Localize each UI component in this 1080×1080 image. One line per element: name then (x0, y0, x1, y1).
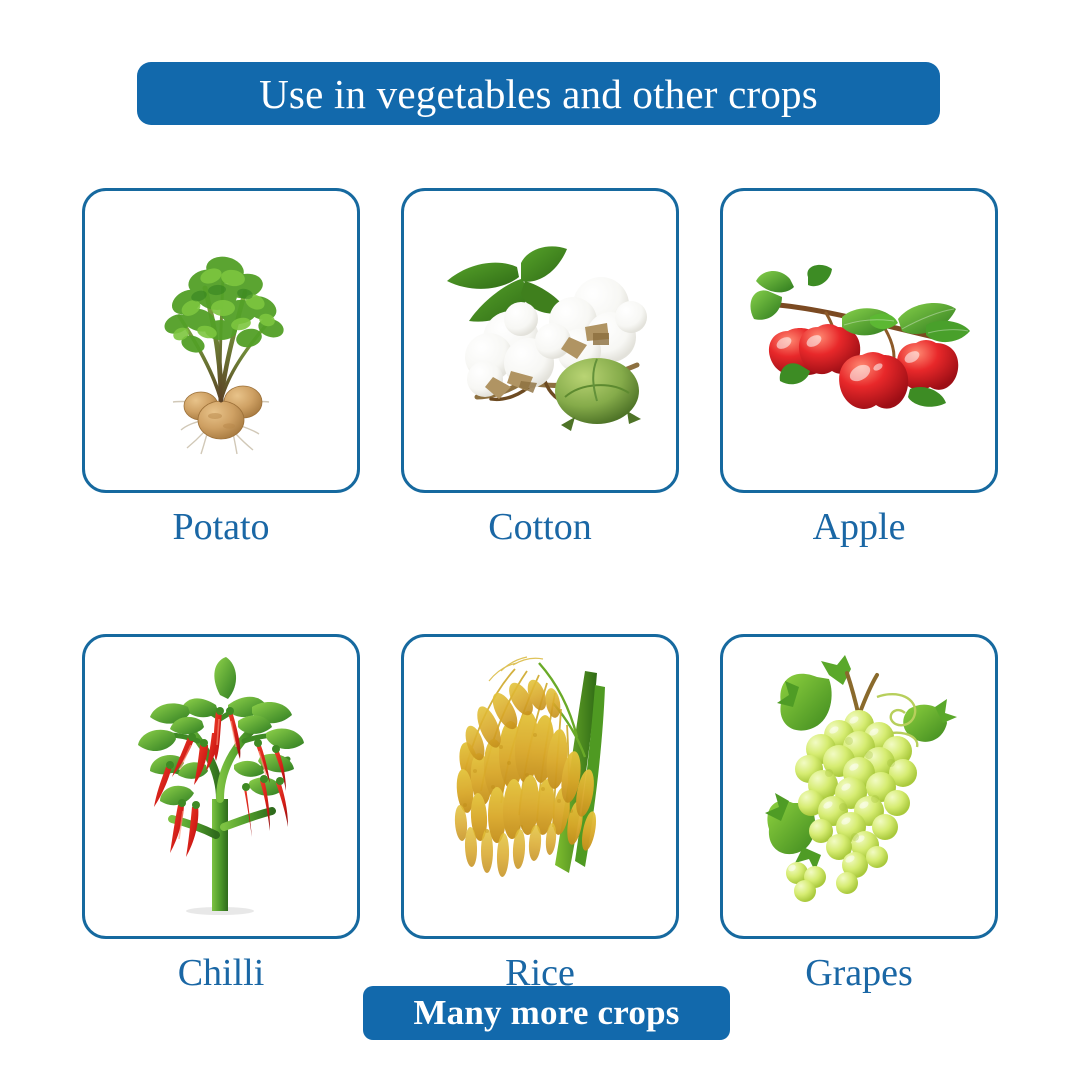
footer-title: Many more crops (413, 993, 679, 1033)
crop-label-cotton: Cotton (488, 507, 591, 549)
crop-card-cotton[interactable] (401, 188, 679, 493)
crop-cell-chilli[interactable]: Chilli (82, 634, 360, 995)
crop-label-grapes: Grapes (805, 953, 913, 995)
crop-label-apple: Apple (813, 507, 906, 549)
poster-root: Use in vegetables and other crops (0, 0, 1080, 1080)
crop-cell-rice[interactable]: Rice (401, 634, 679, 995)
crop-card-apple[interactable] (720, 188, 998, 493)
crop-card-grapes[interactable] (720, 634, 998, 939)
header-banner: Use in vegetables and other crops (137, 62, 940, 125)
crop-grid: Potato (82, 188, 998, 995)
crop-card-rice[interactable] (401, 634, 679, 939)
chilli-plant-image (116, 649, 326, 924)
crop-card-potato[interactable] (82, 188, 360, 493)
crop-label-potato: Potato (172, 507, 269, 549)
page-title: Use in vegetables and other crops (259, 70, 818, 118)
cotton-boll-image (425, 241, 655, 441)
potato-plant-image (121, 216, 321, 466)
grape-bunch-image (759, 651, 959, 921)
crop-cell-grapes[interactable]: Grapes (720, 634, 998, 995)
rice-panicle-image (435, 651, 645, 921)
crop-cell-apple[interactable]: Apple (720, 188, 998, 549)
crop-label-chilli: Chilli (178, 953, 265, 995)
footer-banner: Many more crops (363, 986, 730, 1040)
crop-grid-row: Chilli (82, 634, 998, 995)
apple-branch-image (744, 261, 974, 421)
crop-cell-potato[interactable]: Potato (82, 188, 360, 549)
crop-card-chilli[interactable] (82, 634, 360, 939)
crop-grid-row: Potato (82, 188, 998, 549)
crop-cell-cotton[interactable]: Cotton (401, 188, 679, 549)
